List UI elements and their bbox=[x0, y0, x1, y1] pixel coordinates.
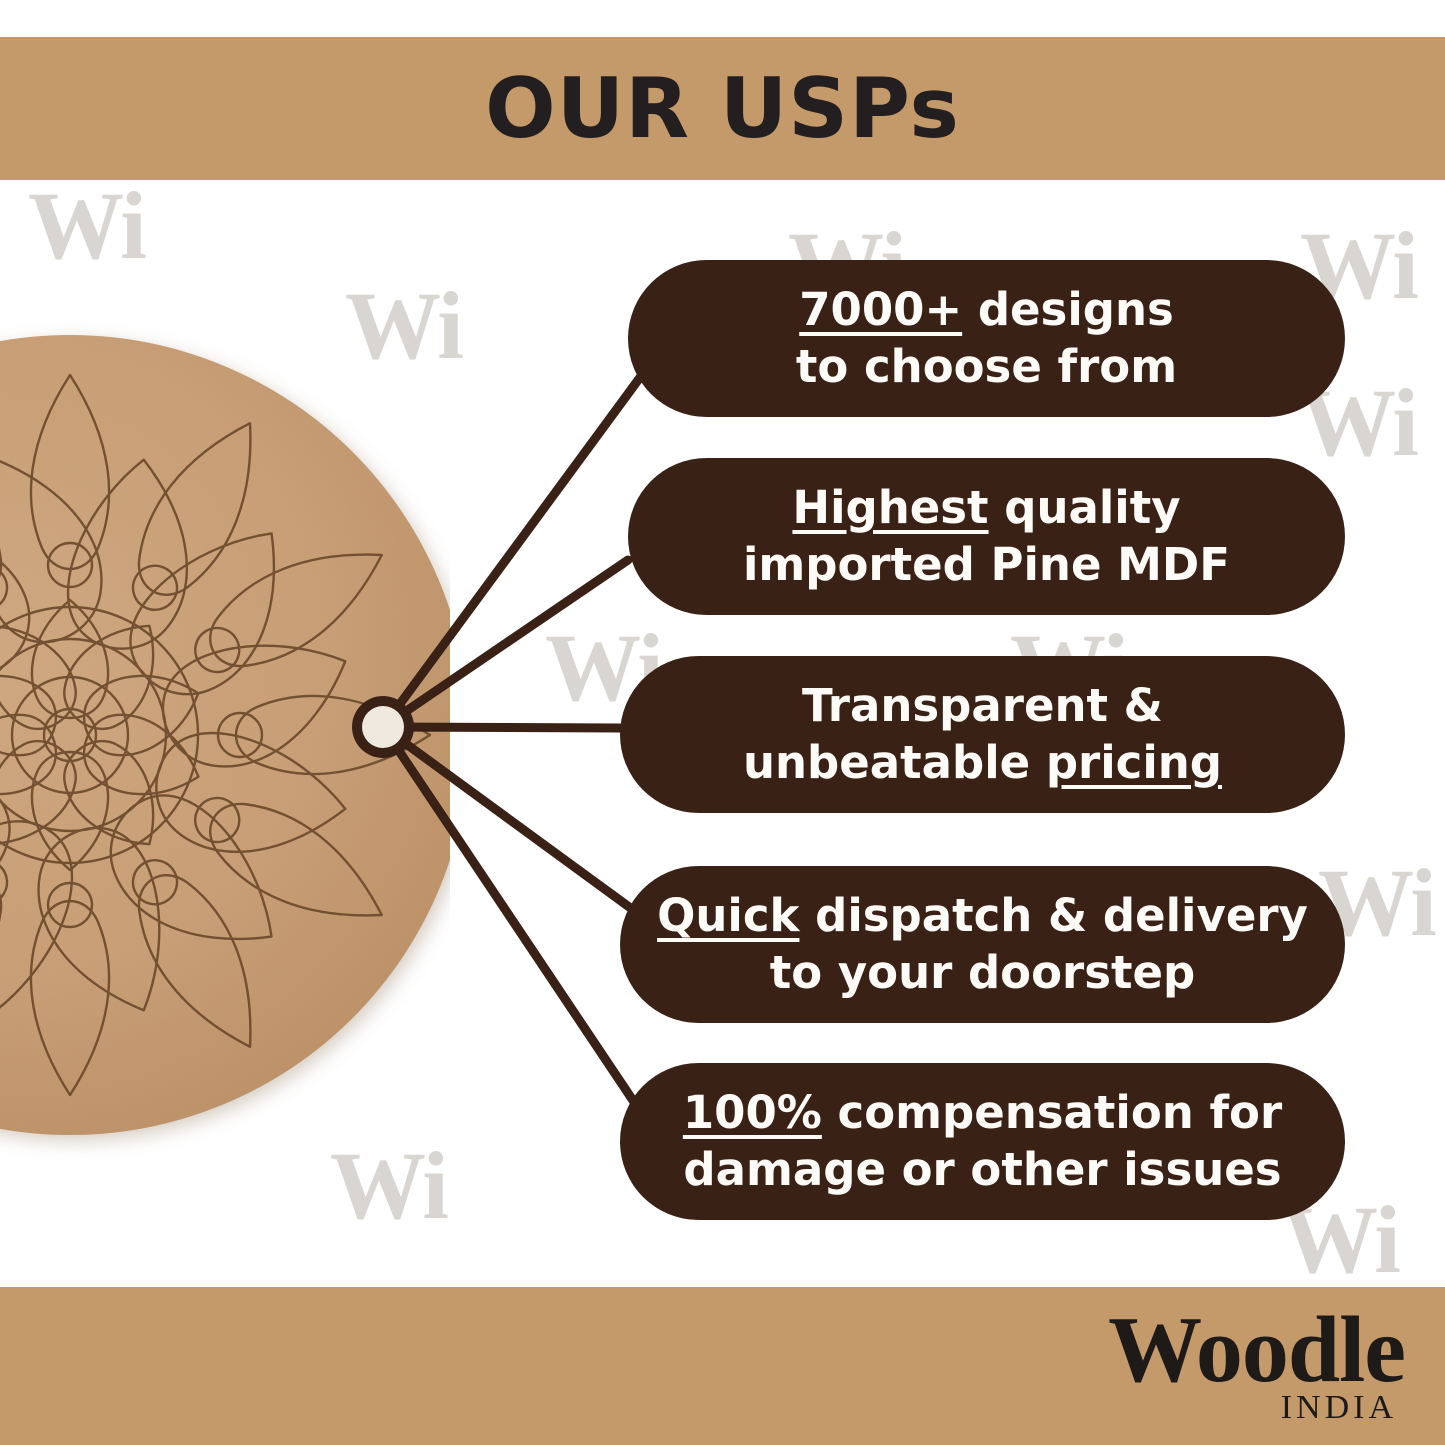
usp-pill-line: imported Pine MDF bbox=[743, 537, 1230, 594]
usp-pill[interactable]: Quick dispatch & deliveryto your doorste… bbox=[620, 866, 1345, 1023]
page-title: OUR USPs bbox=[485, 60, 960, 157]
usp-pill-line: damage or other issues bbox=[683, 1142, 1282, 1199]
watermark-wi: Wi bbox=[28, 178, 145, 274]
usp-pill-line: to choose from bbox=[796, 339, 1177, 396]
usp-pill[interactable]: Transparent &unbeatable pricing bbox=[620, 656, 1345, 813]
usp-pill-text: 100% compensation fordamage or other iss… bbox=[683, 1085, 1282, 1198]
usp-pill-text: Quick dispatch & deliveryto your doorste… bbox=[657, 888, 1308, 1001]
usp-pill-text: Highest qualityimported Pine MDF bbox=[743, 480, 1230, 593]
usp-pill-text: 7000+ designsto choose from bbox=[796, 282, 1177, 395]
usp-pill[interactable]: 7000+ designsto choose from bbox=[628, 260, 1345, 417]
infographic-canvas: WiWiWiWiWiWiWiWiWiWi bbox=[0, 0, 1445, 1445]
usp-pill-line: 100% compensation for bbox=[683, 1085, 1282, 1142]
brand-logo-wordmark: Woodle bbox=[1108, 1303, 1405, 1397]
product-image-mandala-mdf bbox=[0, 300, 450, 1170]
brand-logo: Woodle INDIA bbox=[1108, 1303, 1405, 1425]
usp-pill-line: Quick dispatch & delivery bbox=[657, 888, 1308, 945]
usp-pill-text: Transparent &unbeatable pricing bbox=[743, 678, 1222, 791]
usp-pill[interactable]: 100% compensation fordamage or other iss… bbox=[620, 1063, 1345, 1220]
usp-pill-line: 7000+ designs bbox=[796, 282, 1177, 339]
usp-pill-line: unbeatable pricing bbox=[743, 735, 1222, 792]
header-band: OUR USPs bbox=[0, 37, 1445, 180]
usp-pill-line: Transparent & bbox=[743, 678, 1222, 735]
usp-pill-line: to your doorstep bbox=[657, 945, 1308, 1002]
usp-pill-line: Highest quality bbox=[743, 480, 1230, 537]
usp-pill[interactable]: Highest qualityimported Pine MDF bbox=[628, 458, 1345, 615]
